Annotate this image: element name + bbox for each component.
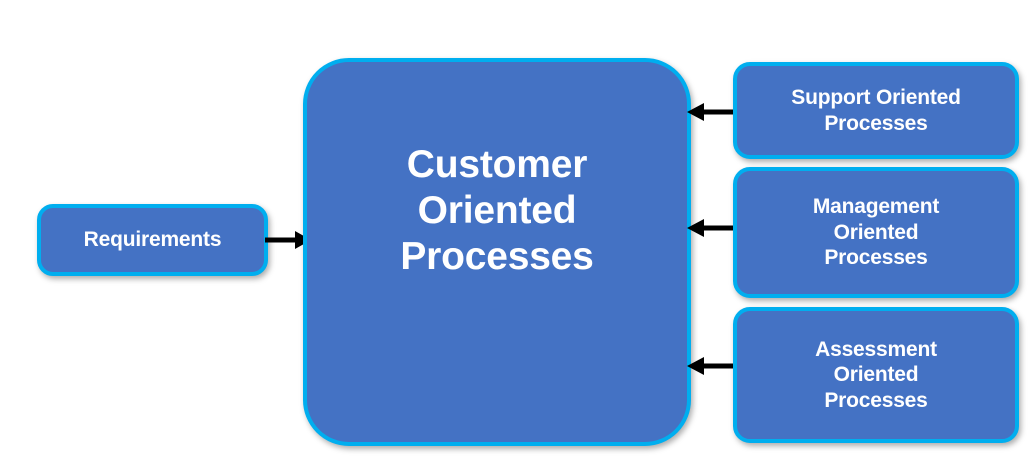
node-management-oriented-processes-label: Management Oriented Processes <box>737 194 1015 271</box>
process-diagram: Requirements Customer Oriented Processes… <box>0 0 1033 459</box>
arrow-assessment-to-customer <box>684 353 740 379</box>
node-assessment-oriented-processes-label: Assessment Oriented Processes <box>737 337 1015 414</box>
node-support-oriented-processes-label: Support Oriented Processes <box>737 85 1015 136</box>
arrow-management-to-customer <box>684 215 740 241</box>
node-customer-oriented-processes[interactable]: Customer Oriented Processes <box>303 58 691 446</box>
node-management-oriented-processes[interactable]: Management Oriented Processes <box>733 167 1019 298</box>
node-customer-oriented-processes-label: Customer Oriented Processes <box>307 142 687 280</box>
node-requirements[interactable]: Requirements <box>37 204 268 276</box>
arrow-support-to-customer <box>684 99 740 125</box>
node-requirements-label: Requirements <box>41 228 264 252</box>
node-assessment-oriented-processes[interactable]: Assessment Oriented Processes <box>733 307 1019 443</box>
node-support-oriented-processes[interactable]: Support Oriented Processes <box>733 62 1019 159</box>
